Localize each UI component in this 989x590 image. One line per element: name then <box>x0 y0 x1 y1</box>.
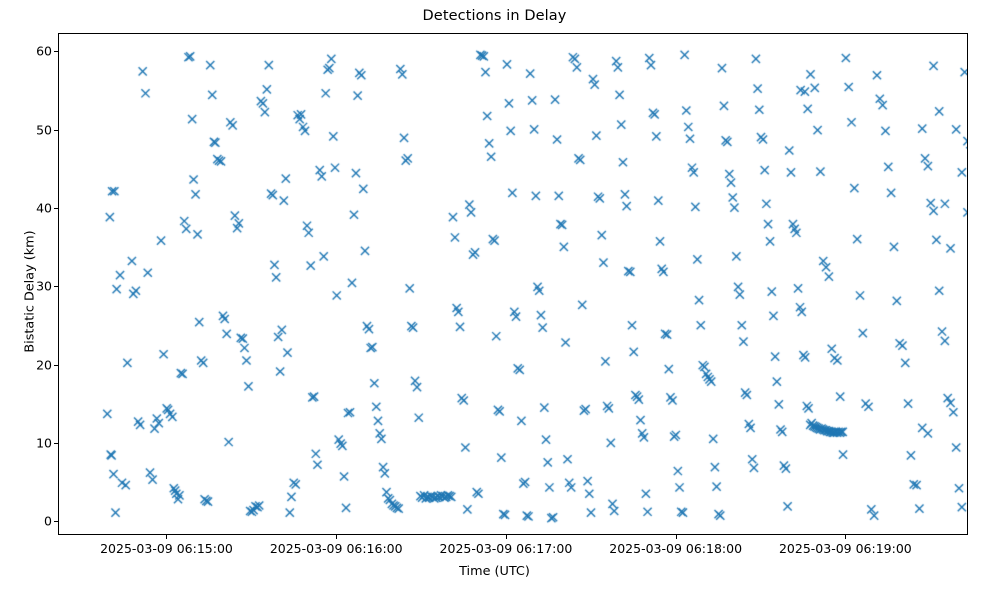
x-tick-mark <box>676 535 677 539</box>
x-tick-mark <box>336 535 337 539</box>
x-tick-label: 2025-03-09 06:18:00 <box>609 541 742 556</box>
figure-canvas: Detections in Delay Bistatic Delay (km) … <box>0 0 989 590</box>
plot-area <box>58 33 968 535</box>
scatter-series <box>59 34 967 534</box>
x-tick-label: 2025-03-09 06:15:00 <box>100 541 233 556</box>
y-axis-tick-labels: 0102030405060 <box>6 0 52 590</box>
x-tick-mark <box>845 535 846 539</box>
x-tick-mark <box>506 535 507 539</box>
y-tick-label: 60 <box>10 44 52 59</box>
x-tick-mark <box>166 535 167 539</box>
y-tick-label: 30 <box>10 279 52 294</box>
y-tick-label: 50 <box>10 122 52 137</box>
y-tick-label: 10 <box>10 436 52 451</box>
y-tick-label: 0 <box>10 514 52 529</box>
y-tick-label: 40 <box>10 200 52 215</box>
x-axis-label: Time (UTC) <box>0 564 989 579</box>
y-tick-label: 20 <box>10 357 52 372</box>
chart-title: Detections in Delay <box>0 8 989 24</box>
x-tick-label: 2025-03-09 06:19:00 <box>779 541 912 556</box>
x-tick-label: 2025-03-09 06:17:00 <box>440 541 573 556</box>
x-tick-label: 2025-03-09 06:16:00 <box>270 541 403 556</box>
